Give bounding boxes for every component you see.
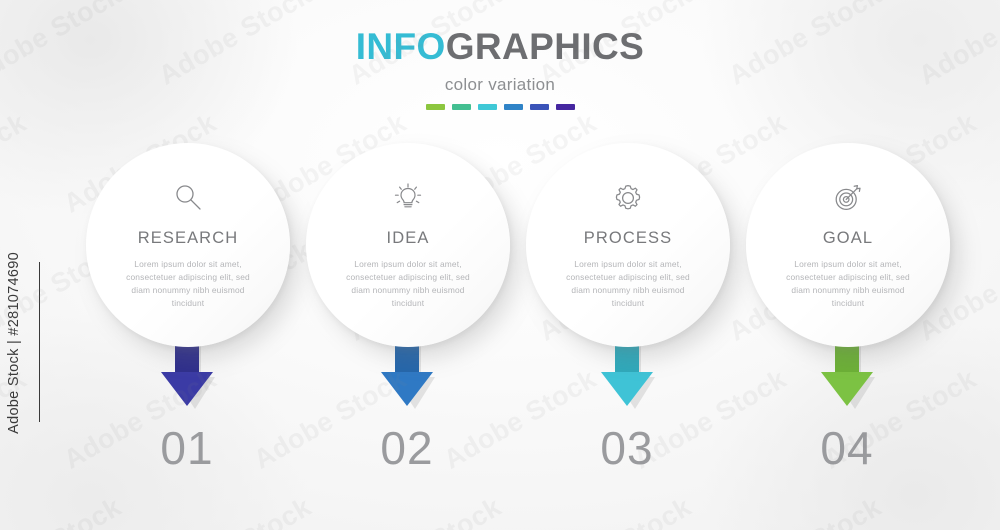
step-card-4[interactable]: GOALLorem ipsum dolor sit amet, consecte… bbox=[746, 143, 950, 347]
step-description: Lorem ipsum dolor sit amet, consectetuer… bbox=[780, 258, 916, 310]
step-arrow-4 bbox=[815, 340, 879, 412]
watermark-rule bbox=[39, 262, 40, 422]
search-icon bbox=[171, 181, 205, 215]
watermark-side-text: Adobe Stock | #281074690 bbox=[6, 252, 22, 434]
step-card-content: RESEARCHLorem ipsum dolor sit amet, cons… bbox=[86, 143, 290, 347]
step-number-4: 04 bbox=[777, 425, 917, 471]
step-title: IDEA bbox=[387, 229, 430, 248]
step-title: GOAL bbox=[823, 229, 873, 248]
step-arrow-2 bbox=[375, 340, 439, 412]
step-description: Lorem ipsum dolor sit amet, consectetuer… bbox=[340, 258, 476, 310]
steps-container: RESEARCHLorem ipsum dolor sit amet, cons… bbox=[0, 0, 1000, 530]
lightbulb-icon bbox=[391, 181, 425, 215]
target-icon bbox=[831, 181, 865, 215]
step-description: Lorem ipsum dolor sit amet, consectetuer… bbox=[560, 258, 696, 310]
step-card-content: GOALLorem ipsum dolor sit amet, consecte… bbox=[746, 143, 950, 347]
gear-icon bbox=[611, 181, 645, 215]
step-arrow-1 bbox=[155, 340, 219, 412]
step-number-2: 02 bbox=[337, 425, 477, 471]
step-title: PROCESS bbox=[584, 229, 672, 248]
step-title: RESEARCH bbox=[138, 229, 239, 248]
step-card-1[interactable]: RESEARCHLorem ipsum dolor sit amet, cons… bbox=[86, 143, 290, 347]
step-description: Lorem ipsum dolor sit amet, consectetuer… bbox=[120, 258, 256, 310]
step-number-3: 03 bbox=[557, 425, 697, 471]
step-number-1: 01 bbox=[117, 425, 257, 471]
step-arrow-3 bbox=[595, 340, 659, 412]
infographic-canvas: INFOGRAPHICS color variation RESEARCHLor… bbox=[0, 0, 1000, 530]
step-card-3[interactable]: PROCESSLorem ipsum dolor sit amet, conse… bbox=[526, 143, 730, 347]
step-card-2[interactable]: IDEALorem ipsum dolor sit amet, consecte… bbox=[306, 143, 510, 347]
step-card-content: PROCESSLorem ipsum dolor sit amet, conse… bbox=[526, 143, 730, 347]
step-card-content: IDEALorem ipsum dolor sit amet, consecte… bbox=[306, 143, 510, 347]
